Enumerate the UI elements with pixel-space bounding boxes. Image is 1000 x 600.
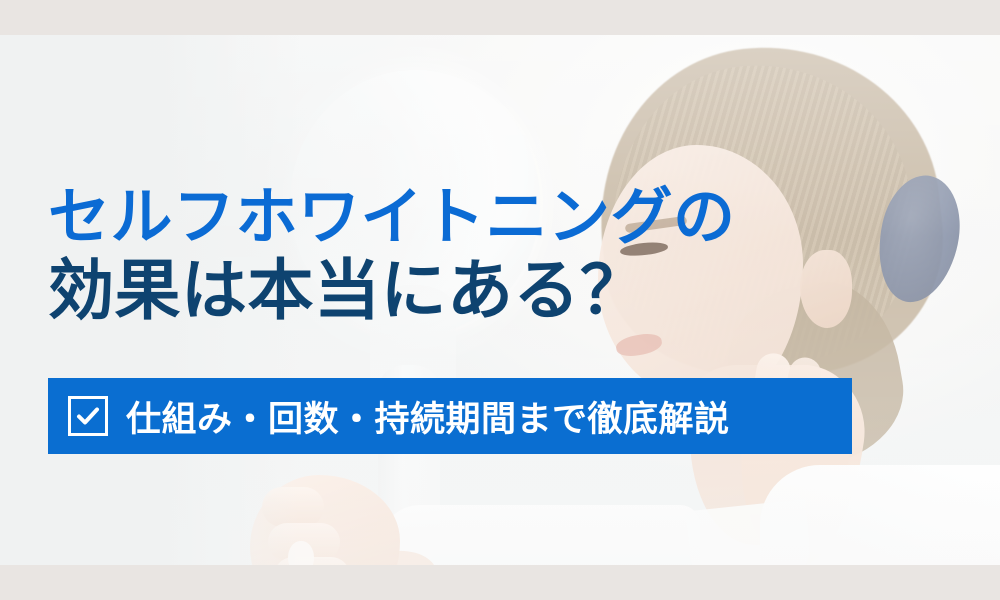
- subtitle-banner: 仕組み・回数・持続期間まで徹底解説: [48, 378, 852, 454]
- fingernail: [288, 541, 314, 565]
- headline-line-2: 効果は本当にある？: [48, 256, 736, 325]
- headline-block: セルフホワイトニングの 効果は本当にある？: [48, 186, 736, 325]
- shirt-left-shoulder: [380, 505, 700, 565]
- eyecatch-image: セルフホワイトニングの 効果は本当にある？ 仕組み・回数・持続期間まで徹底解説: [0, 0, 1000, 600]
- letterbox-bar-top: [0, 0, 1000, 35]
- checkbox-checked-icon: [68, 396, 108, 436]
- shirt-collar: [686, 499, 815, 565]
- ear: [800, 250, 852, 328]
- headline-line-1: セルフホワイトニングの: [48, 186, 736, 250]
- subtitle-banner-text: 仕組み・回数・持続期間まで徹底解説: [126, 391, 730, 442]
- letterbox-bar-bottom: [0, 565, 1000, 600]
- knuckle: [262, 487, 324, 527]
